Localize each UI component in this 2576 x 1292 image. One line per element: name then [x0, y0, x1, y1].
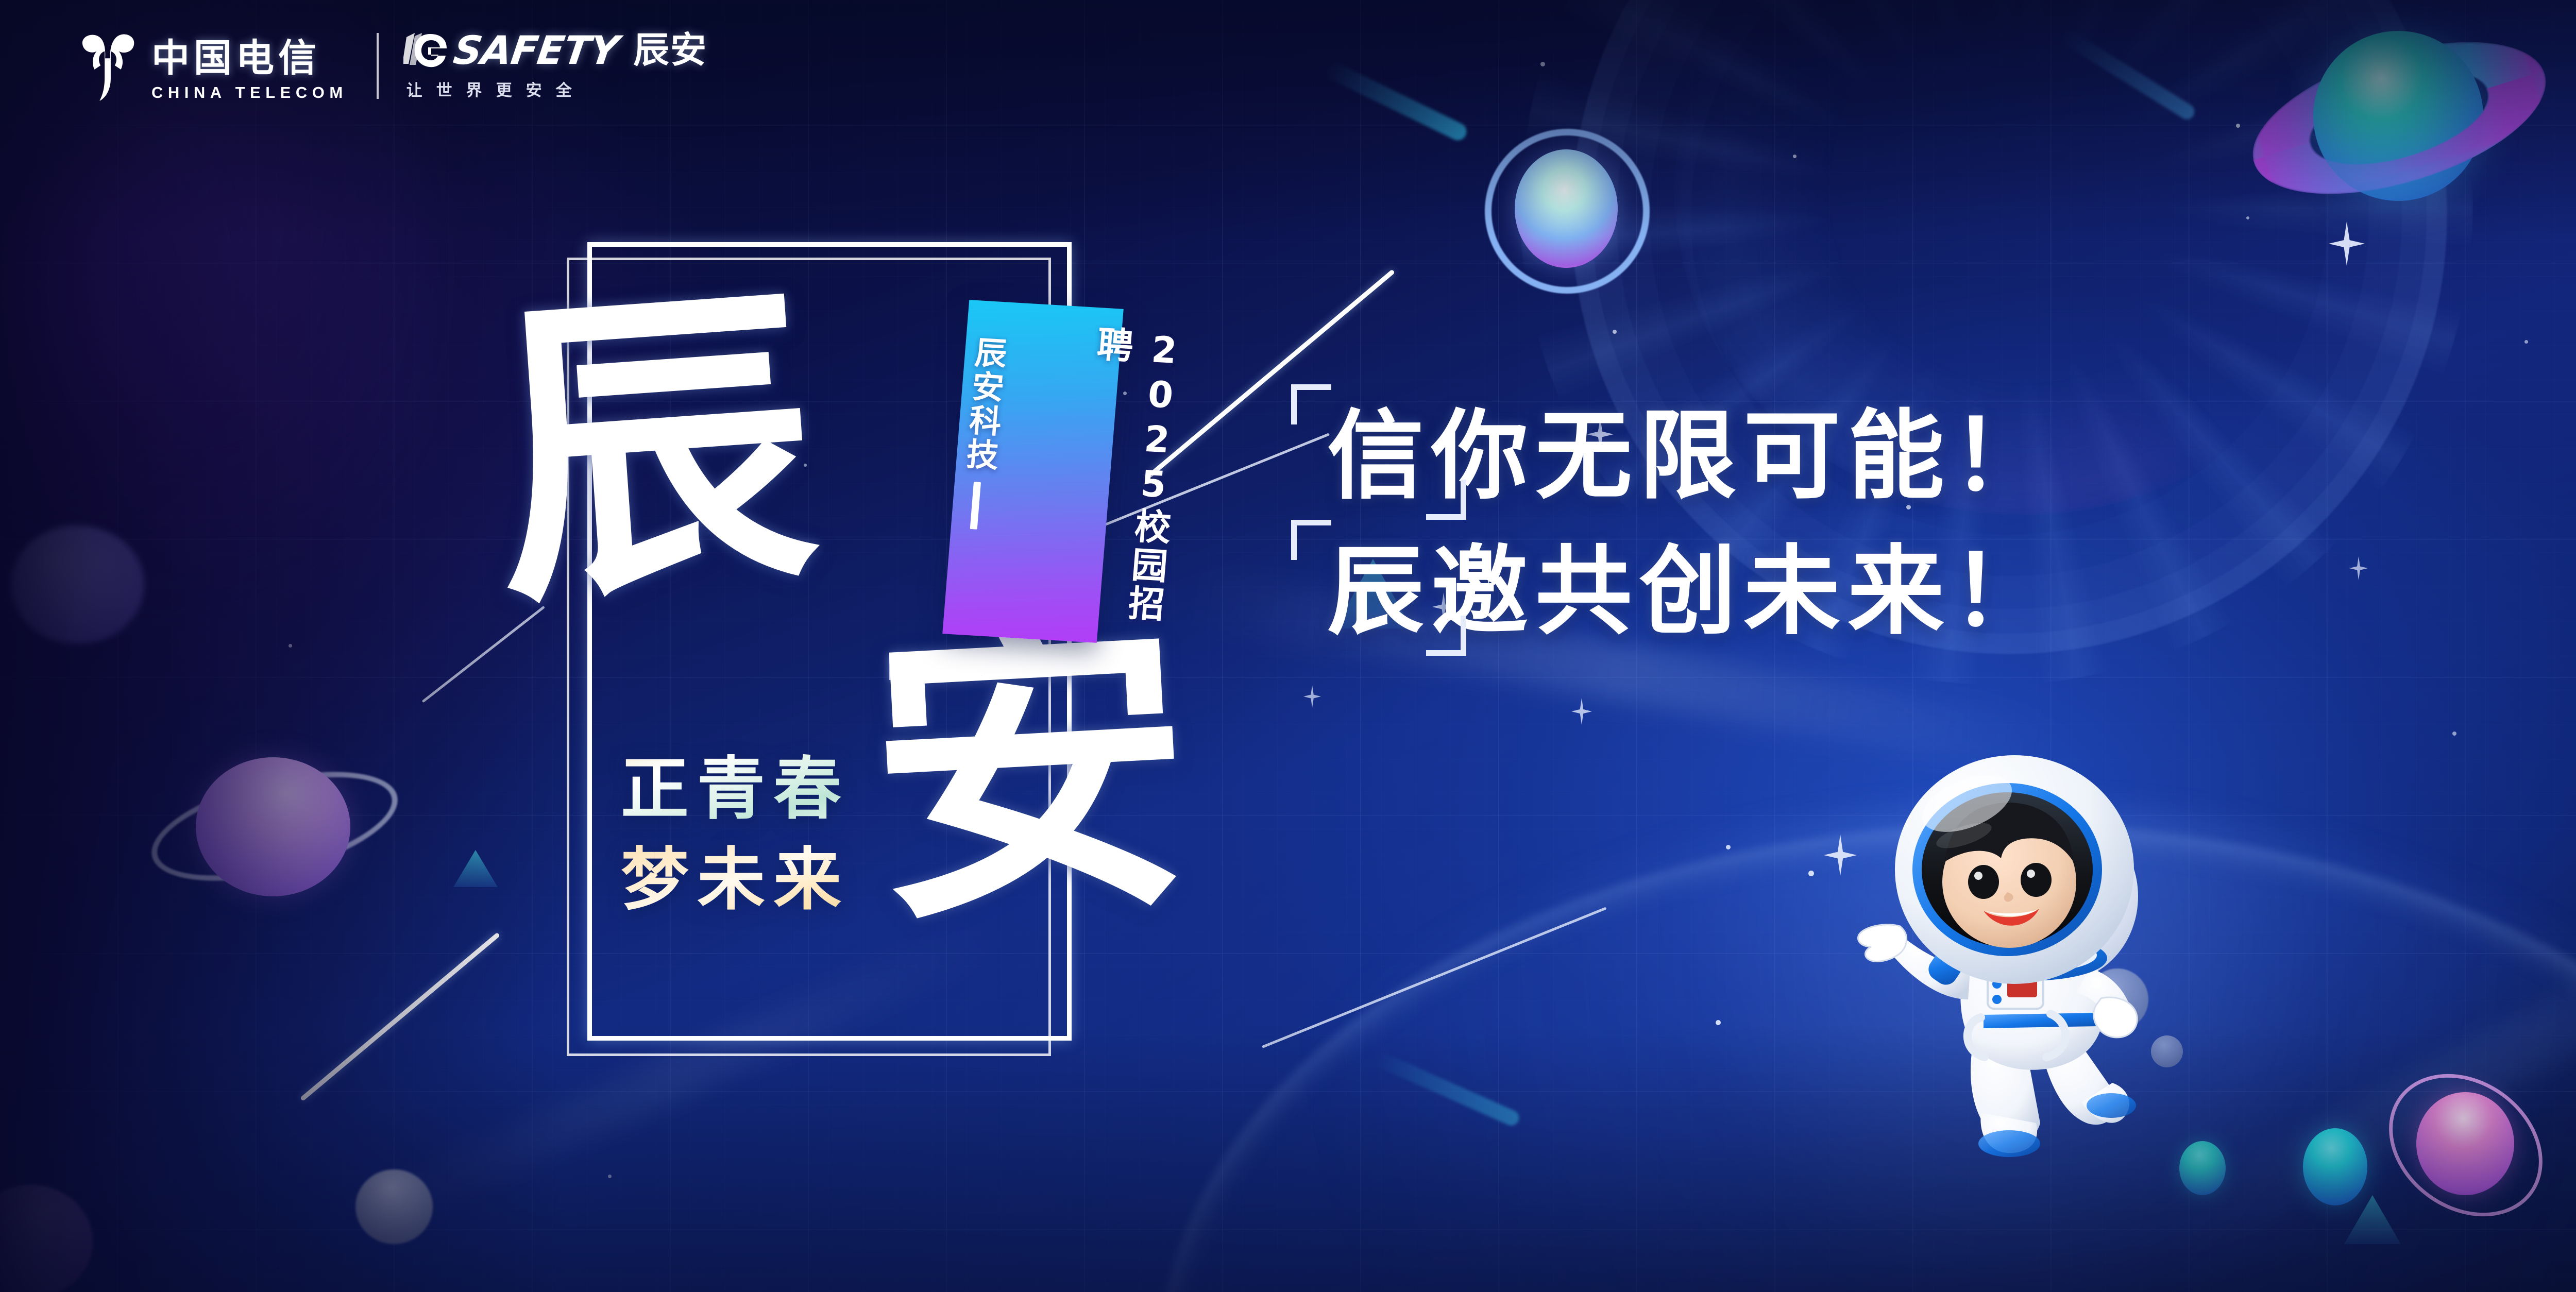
- bracket-top-left-icon: [1291, 384, 1331, 424]
- logo-divider: [377, 33, 379, 99]
- gsafety-tagline: 让世界更安全: [406, 77, 586, 100]
- china-telecom-mark-icon: [77, 30, 138, 102]
- gsafety-logo: SAFETY 辰安 让世界更安全: [403, 32, 707, 100]
- gsafety-cn: 辰安: [633, 33, 707, 67]
- recruitment-poster: 中国电信 CHINA TELECOM SAFETY 辰安 让世界更安全: [0, 0, 2576, 1292]
- slogan-line-1-rest: 你无限可能！: [1431, 399, 2056, 513]
- sub-slogan-line-2: 梦未来: [621, 840, 850, 921]
- sub-slogan: 正青春 梦未来: [621, 750, 850, 921]
- vignette-bottom: [0, 1024, 2576, 1292]
- gsafety-g-mark-icon: [403, 32, 447, 69]
- slogan-line-2-key: 辰: [1327, 532, 1431, 650]
- boot-trim-left: [1978, 1130, 2040, 1157]
- china-telecom-cn: 中国电信: [151, 39, 320, 77]
- recruitment-badge: 2025校园招聘 辰安科技: [942, 300, 1124, 643]
- hand-right-fist: [2094, 997, 2138, 1038]
- sub-slogan-line-1: 正青春: [621, 750, 850, 830]
- star: [1726, 845, 1731, 849]
- eye-left-highlight: [1974, 872, 1982, 880]
- slogan-line-2-rest: 邀共创未来！: [1431, 534, 2056, 648]
- star: [1808, 871, 1814, 876]
- chest-belt: [1984, 1013, 2097, 1028]
- star: [1613, 330, 1617, 334]
- slogan-line-2: 辰邀共创未来！: [1298, 532, 2084, 650]
- chest-button-2: [1992, 995, 2002, 1004]
- eye-left: [1968, 865, 1999, 899]
- badge-sub-text: 辰安科技: [955, 335, 1012, 473]
- eye-right: [2021, 863, 2052, 897]
- slogan-line-1: 信你无限可能！: [1298, 397, 2084, 515]
- eye-right-highlight: [2027, 870, 2035, 878]
- star: [2524, 340, 2528, 344]
- bracket-top-left-icon: [1291, 520, 1331, 560]
- china-telecom-en: CHINA TELECOM: [151, 83, 348, 102]
- bracket-bottom-right-icon: [1426, 616, 1466, 656]
- sparkle-star: [1571, 698, 1592, 725]
- boot-trim-right: [2087, 1093, 2136, 1118]
- main-slogan: 信你无限可能！ 辰邀共创未来！: [1298, 397, 2576, 668]
- logo-bar: 中国电信 CHINA TELECOM SAFETY 辰安 让世界更安全: [77, 30, 707, 102]
- calligraphy-chen: 辰: [484, 278, 825, 619]
- gsafety-wordmark: SAFETY: [451, 32, 620, 69]
- star: [2452, 732, 2456, 736]
- china-telecom-logo: 中国电信 CHINA TELECOM: [77, 30, 348, 102]
- slogan-line-1-key: 信: [1327, 397, 1431, 515]
- china-telecom-text: 中国电信 CHINA TELECOM: [151, 39, 348, 102]
- bracket-bottom-right-icon: [1426, 480, 1466, 520]
- sparkle-star: [1303, 685, 1321, 708]
- calligraphy-an: 安: [862, 602, 1198, 938]
- gsafety-row: SAFETY 辰安: [403, 32, 707, 69]
- badge-rule: [970, 482, 981, 530]
- astronaut-mascot: [1855, 742, 2174, 1169]
